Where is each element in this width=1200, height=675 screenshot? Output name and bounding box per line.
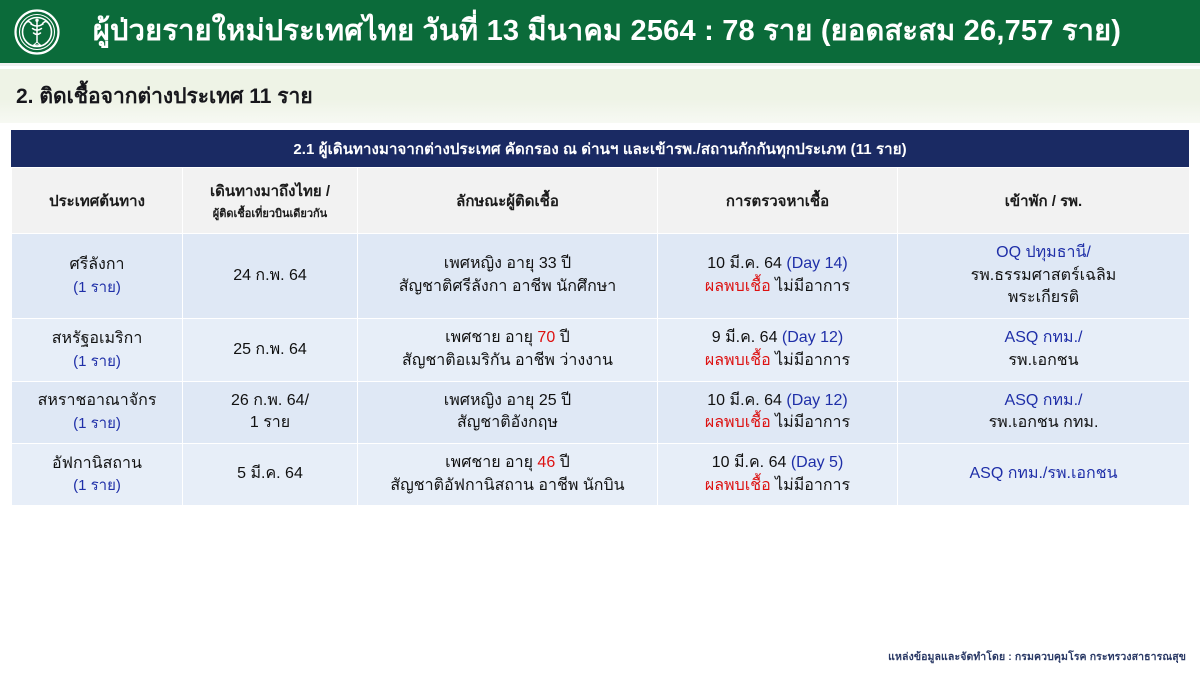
column-header-main: เดินทางมาถึงไทย / <box>210 183 330 200</box>
case-age: 70 <box>537 329 555 346</box>
column-header-case-profile: ลักษณะผู้ติดเชื้อ <box>358 168 658 234</box>
accommodation-quarantine: ASQ กทม./ <box>904 327 1183 350</box>
case-age: 46 <box>537 454 555 471</box>
column-header-accommodation: เข้าพัก / รพ. <box>898 168 1190 234</box>
column-header-main: เข้าพัก / รพ. <box>1005 193 1082 210</box>
case-nationality-occupation: สัญชาติศรีลังกา อาชีพ นักศึกษา <box>364 276 651 299</box>
cell-case-profile: เพศหญิง อายุ 33 ปีสัญชาติศรีลังกา อาชีพ … <box>358 234 658 319</box>
cell-accommodation: ASQ กทม./รพ.เอกชน กทม. <box>898 381 1190 443</box>
table-body: ศรีลังกา(1 ราย)24 ก.พ. 64เพศหญิง อายุ 33… <box>12 234 1190 506</box>
column-header-sub: ผู้ติดเชื้อเที่ยวบินเดียวกัน <box>187 204 353 222</box>
cell-accommodation: ASQ กทม./รพ.เอกชน <box>898 319 1190 381</box>
test-date: 10 มี.ค. 64 <box>707 255 786 272</box>
test-result: ผลพบเชื้อ <box>705 278 771 295</box>
case-age: 25 <box>539 392 557 409</box>
case-sex-age: เพศชาย อายุ 70 ปี <box>364 327 651 350</box>
page-title: ผู้ป่วยรายใหม่ประเทศไทย วันที่ 13 มีนาคม… <box>60 16 1200 48</box>
accommodation-quarantine: OQ ปทุมธานี/ <box>904 242 1183 265</box>
cell-origin-country: ศรีลังกา(1 ราย) <box>12 234 183 319</box>
test-date-line: 10 มี.ค. 64 (Day 5) <box>664 452 891 475</box>
arrival-date: 26 ก.พ. 64/ <box>189 390 351 413</box>
cell-arrival-date: 24 ก.พ. 64 <box>183 234 358 319</box>
cell-case-profile: เพศหญิง อายุ 25 ปีสัญชาติอังกฤษ <box>358 381 658 443</box>
country-case-count: (1 ราย) <box>18 413 176 434</box>
country-name: อัฟกานิสถาน <box>18 453 176 476</box>
accommodation-hospital-cont: พระเกียรติ <box>904 287 1183 310</box>
test-day-number: (Day 12) <box>782 329 843 346</box>
case-sex-age: เพศหญิง อายุ 33 ปี <box>364 253 651 276</box>
table-row: ศรีลังกา(1 ราย)24 ก.พ. 64เพศหญิง อายุ 33… <box>12 234 1190 319</box>
test-result-line: ผลพบเชื้อ ไม่มีอาการ <box>664 350 891 373</box>
test-date: 9 มี.ค. 64 <box>712 329 782 346</box>
cell-arrival-date: 5 มี.ค. 64 <box>183 444 358 506</box>
cell-case-profile: เพศชาย อายุ 46 ปีสัญชาติอัฟกานิสถาน อาชี… <box>358 444 658 506</box>
country-name: สหราชอาณาจักร <box>18 390 176 413</box>
test-date-line: 10 มี.ค. 64 (Day 14) <box>664 253 891 276</box>
test-day-number: (Day 12) <box>786 392 847 409</box>
accommodation-hospital: รพ.เอกชน กทม. <box>904 412 1183 435</box>
table-header-row: ประเทศต้นทาง เดินทางมาถึงไทย / ผู้ติดเชื… <box>12 168 1190 234</box>
cell-origin-country: อัฟกานิสถาน(1 ราย) <box>12 444 183 506</box>
country-name: ศรีลังกา <box>18 254 176 277</box>
test-day-number: (Day 5) <box>791 454 843 471</box>
test-result-line: ผลพบเชื้อ ไม่มีอาการ <box>664 475 891 498</box>
test-date: 10 มี.ค. 64 <box>707 392 786 409</box>
column-header-main: ประเทศต้นทาง <box>49 193 145 210</box>
test-day-number: (Day 14) <box>786 255 847 272</box>
test-symptom: ไม่มีอาการ <box>771 352 850 369</box>
country-case-count: (1 ราย) <box>18 277 176 298</box>
test-symptom: ไม่มีอาการ <box>771 414 850 431</box>
test-result-line: ผลพบเชื้อ ไม่มีอาการ <box>664 276 891 299</box>
test-symptom: ไม่มีอาการ <box>771 477 850 494</box>
cell-arrival-date: 25 ก.พ. 64 <box>183 319 358 381</box>
column-header-origin-country: ประเทศต้นทาง <box>12 168 183 234</box>
case-sex-age: เพศชาย อายุ 46 ปี <box>364 452 651 475</box>
accommodation-hospital: รพ.ธรรมศาสตร์เฉลิม <box>904 265 1183 288</box>
cell-origin-country: สหราชอาณาจักร(1 ราย) <box>12 381 183 443</box>
cell-case-profile: เพศชาย อายุ 70 ปีสัญชาติอเมริกัน อาชีพ ว… <box>358 319 658 381</box>
test-result: ผลพบเชื้อ <box>705 352 771 369</box>
cell-testing: 9 มี.ค. 64 (Day 12)ผลพบเชื้อ ไม่มีอาการ <box>658 319 898 381</box>
cell-testing: 10 มี.ค. 64 (Day 14)ผลพบเชื้อ ไม่มีอาการ <box>658 234 898 319</box>
country-case-count: (1 ราย) <box>18 351 176 372</box>
table-row: อัฟกานิสถาน(1 ราย)5 มี.ค. 64เพศชาย อายุ … <box>12 444 1190 506</box>
imported-cases-table: ประเทศต้นทาง เดินทางมาถึงไทย / ผู้ติดเชื… <box>11 167 1190 506</box>
moph-caduceus-logo-icon <box>14 9 60 55</box>
case-sex-age: เพศหญิง อายุ 25 ปี <box>364 390 651 413</box>
case-nationality-occupation: สัญชาติอัฟกานิสถาน อาชีพ นักบิน <box>364 475 651 498</box>
cell-accommodation: ASQ กทม./รพ.เอกชน <box>898 444 1190 506</box>
accommodation-quarantine: ASQ กทม./รพ.เอกชน <box>904 463 1183 486</box>
test-result: ผลพบเชื้อ <box>705 414 771 431</box>
test-symptom: ไม่มีอาการ <box>771 278 850 295</box>
arrival-date: 25 ก.พ. 64 <box>189 339 351 362</box>
column-header-main: การตรวจหาเชื้อ <box>726 193 829 210</box>
test-result-line: ผลพบเชื้อ ไม่มีอาการ <box>664 412 891 435</box>
table-row: สหราชอาณาจักร(1 ราย)26 ก.พ. 64/1 รายเพศห… <box>12 381 1190 443</box>
test-date-line: 9 มี.ค. 64 (Day 12) <box>664 327 891 350</box>
accommodation-quarantine: ASQ กทม./ <box>904 390 1183 413</box>
country-name: สหรัฐอเมริกา <box>18 328 176 351</box>
section-title: 2. ติดเชื้อจากต่างประเทศ 11 ราย <box>16 80 313 113</box>
cell-testing: 10 มี.ค. 64 (Day 5)ผลพบเชื้อ ไม่มีอาการ <box>658 444 898 506</box>
column-header-main: ลักษณะผู้ติดเชื้อ <box>456 193 559 210</box>
arrival-same-flight-count: 1 ราย <box>189 412 351 435</box>
imported-cases-table-area: 2.1 ผู้เดินทางมาจากต่างประเทศ คัดกรอง ณ … <box>11 130 1189 506</box>
test-result: ผลพบเชื้อ <box>705 477 771 494</box>
test-date: 10 มี.ค. 64 <box>712 454 791 471</box>
test-date-line: 10 มี.ค. 64 (Day 12) <box>664 390 891 413</box>
accommodation-hospital: รพ.เอกชน <box>904 350 1183 373</box>
page-header: ผู้ป่วยรายใหม่ประเทศไทย วันที่ 13 มีนาคม… <box>0 0 1200 66</box>
case-age: 33 <box>539 255 557 272</box>
arrival-date: 24 ก.พ. 64 <box>189 265 351 288</box>
case-nationality-occupation: สัญชาติอังกฤษ <box>364 412 651 435</box>
arrival-date: 5 มี.ค. 64 <box>189 463 351 486</box>
cell-testing: 10 มี.ค. 64 (Day 12)ผลพบเชื้อ ไม่มีอาการ <box>658 381 898 443</box>
table-banner: 2.1 ผู้เดินทางมาจากต่างประเทศ คัดกรอง ณ … <box>11 130 1189 167</box>
cell-arrival-date: 26 ก.พ. 64/1 ราย <box>183 381 358 443</box>
cell-accommodation: OQ ปทุมธานี/รพ.ธรรมศาสตร์เฉลิมพระเกียรติ <box>898 234 1190 319</box>
section-strip: 2. ติดเชื้อจากต่างประเทศ 11 ราย <box>0 69 1200 123</box>
country-case-count: (1 ราย) <box>18 475 176 496</box>
case-nationality-occupation: สัญชาติอเมริกัน อาชีพ ว่างงาน <box>364 350 651 373</box>
cell-origin-country: สหรัฐอเมริกา(1 ราย) <box>12 319 183 381</box>
column-header-testing: การตรวจหาเชื้อ <box>658 168 898 234</box>
table-row: สหรัฐอเมริกา(1 ราย)25 ก.พ. 64เพศชาย อายุ… <box>12 319 1190 381</box>
column-header-arrival-date: เดินทางมาถึงไทย / ผู้ติดเชื้อเที่ยวบินเด… <box>183 168 358 234</box>
source-note: แหล่งข้อมูลและจัดทำโดย : กรมควบคุมโรค กร… <box>888 648 1186 665</box>
